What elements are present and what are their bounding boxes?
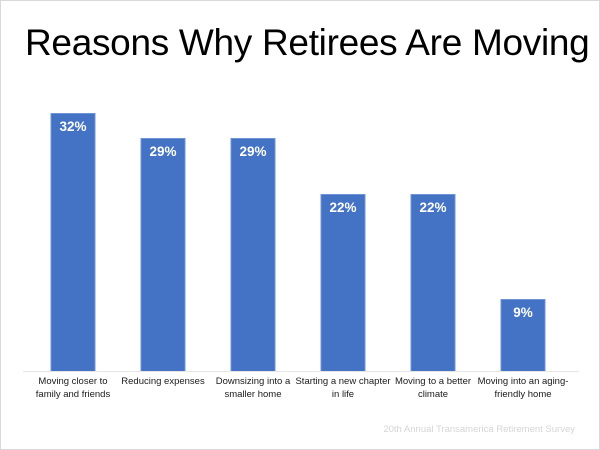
bar-2[interactable]: 29% [141,138,186,372]
bar-value-2: 29% [142,144,185,160]
bar-slot-6: 9% [479,81,567,372]
bar-value-6: 9% [502,305,545,321]
category-label-4: Starting a new chapter in life [295,376,391,401]
bar-value-1: 32% [52,119,95,135]
bar-slot-4: 22% [299,81,387,372]
bar-slot-5: 22% [389,81,477,372]
bar-value-5: 22% [412,200,455,216]
bar-6[interactable]: 9% [501,299,546,372]
source-note: 20th Annual Transamerica Retirement Surv… [383,424,575,435]
bar-slot-3: 29% [209,81,297,372]
chart-canvas: Reasons Why Retirees Are Moving 32% 29% … [0,0,600,450]
bar-1[interactable]: 32% [51,113,96,372]
plot-area: 32% 29% 29% 22% 22% 9% [23,81,579,372]
chart-title: Reasons Why Retirees Are Moving [25,19,585,67]
bar-4[interactable]: 22% [321,194,366,372]
axis-baseline [23,371,579,372]
category-label-2: Reducing expenses [115,376,211,389]
bar-slot-1: 32% [29,81,117,372]
bar-slot-2: 29% [119,81,207,372]
category-label-3: Downsizing into a smaller home [205,376,301,401]
category-label-6: Moving into an aging-friendly home [475,376,571,401]
bar-3[interactable]: 29% [231,138,276,372]
category-label-1: Moving closer to family and friends [25,376,121,401]
bar-value-4: 22% [322,200,365,216]
bar-5[interactable]: 22% [411,194,456,372]
bar-value-3: 29% [232,144,275,160]
category-label-5: Moving to a better climate [385,376,481,401]
